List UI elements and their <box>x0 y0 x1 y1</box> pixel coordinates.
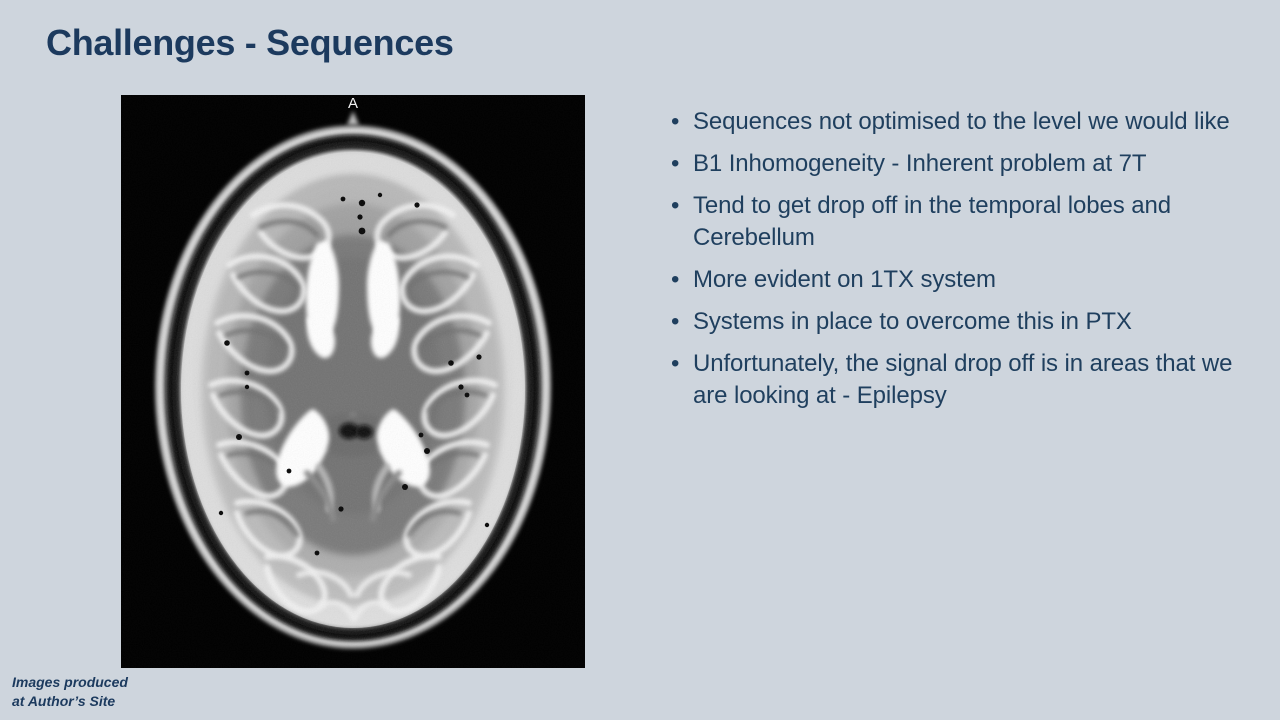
bullet-point-icon: • <box>665 106 693 138</box>
list-item-text: More evident on 1TX system <box>693 264 1233 296</box>
bullet-point-icon: • <box>665 190 693 222</box>
page-title: Challenges - Sequences <box>46 20 646 66</box>
list-item: • Systems in place to overcome this in P… <box>665 306 1233 338</box>
list-item: • B1 Inhomogeneity - Inherent problem at… <box>665 148 1233 180</box>
list-item: • Tend to get drop off in the temporal l… <box>665 190 1233 254</box>
list-item-text: Tend to get drop off in the temporal lob… <box>693 190 1233 254</box>
bullet-point-icon: • <box>665 306 693 338</box>
list-item-text: B1 Inhomogeneity - Inherent problem at 7… <box>693 148 1233 180</box>
mri-image-panel: A <box>121 95 585 668</box>
bullet-point-icon: • <box>665 148 693 180</box>
bullet-list: • Sequences not optimised to the level w… <box>665 106 1233 422</box>
list-item: • More evident on 1TX system <box>665 264 1233 296</box>
list-item-text: Systems in place to overcome this in PTX <box>693 306 1233 338</box>
list-item-text: Sequences not optimised to the level we … <box>693 106 1233 138</box>
slide-canvas: Challenges - Sequences <box>0 0 1280 720</box>
image-credit-line-1: Images produced <box>12 673 242 692</box>
brain-mri-image <box>121 95 585 668</box>
list-item: • Unfortunately, the signal drop off is … <box>665 348 1233 412</box>
image-credit-line-2: at Author’s Site <box>12 692 242 711</box>
bullet-point-icon: • <box>665 348 693 380</box>
image-credit-note: Images produced at Author’s Site <box>12 673 242 711</box>
list-item-text: Unfortunately, the signal drop off is in… <box>693 348 1233 412</box>
list-item: • Sequences not optimised to the level w… <box>665 106 1233 138</box>
bullet-point-icon: • <box>665 264 693 296</box>
